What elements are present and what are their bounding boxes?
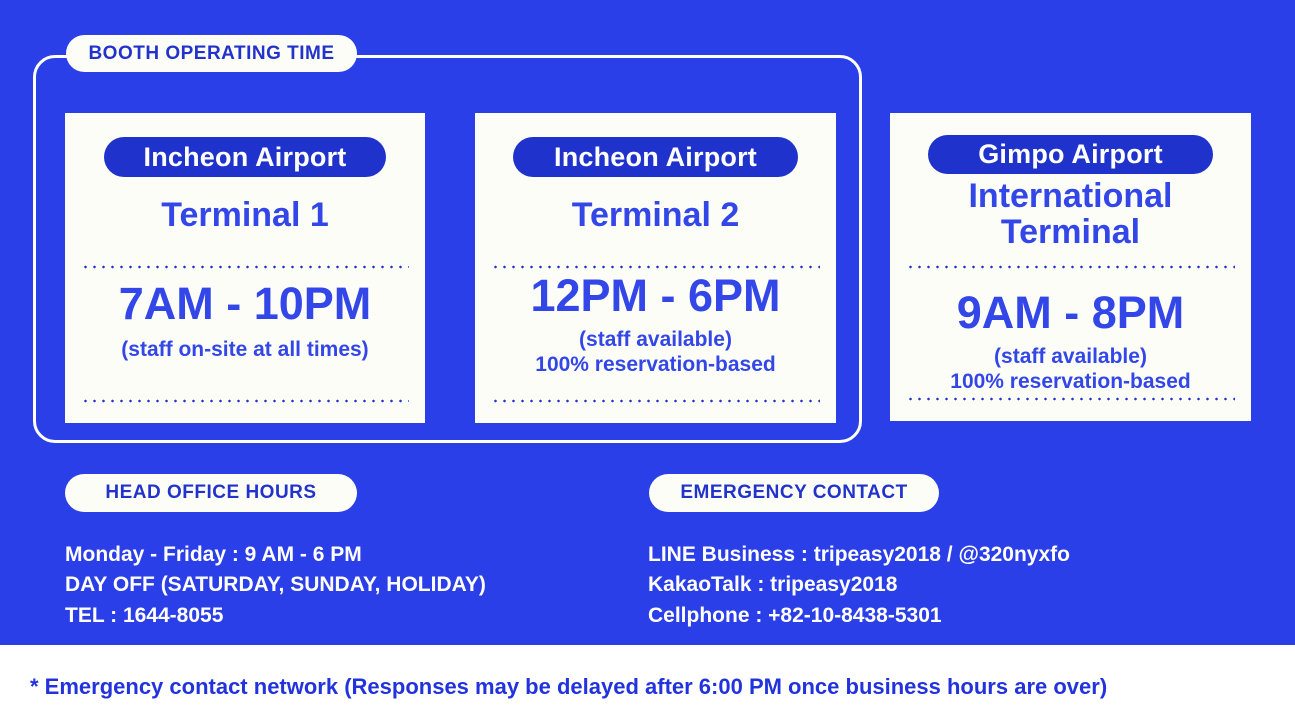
dotted-line — [491, 265, 820, 269]
card-hours: 7AM - 10PM — [119, 281, 372, 326]
card-hours: 12PM - 6PM — [530, 273, 780, 318]
card-terminal-title: Terminal 1 — [161, 197, 329, 233]
dotted-line — [81, 399, 409, 403]
emergency-cellphone: Cellphone : +82-10-8438-5301 — [648, 601, 1070, 631]
card-divider-bottom — [890, 397, 1251, 401]
card-hours: 9AM - 8PM — [957, 290, 1185, 335]
dotted-line — [491, 399, 820, 403]
card-divider-top — [65, 265, 425, 269]
head-office-tel: TEL : 1644-8055 — [65, 601, 486, 631]
card-divider-bottom — [65, 399, 425, 403]
blue-panel: BOOTH OPERATING TIME Incheon Airport Ter… — [0, 0, 1295, 645]
booth-card-incheon-terminal-2: Incheon Airport Terminal 2 12PM - 6PM (s… — [475, 113, 836, 423]
badge-head-office-hours: HEAD OFFICE HOURS — [65, 474, 357, 512]
head-office-weekday-hours: Monday - Friday : 9 AM - 6 PM — [65, 540, 486, 570]
dotted-line — [81, 265, 409, 269]
booth-card-incheon-terminal-1: Incheon Airport Terminal 1 7AM - 10PM (s… — [65, 113, 425, 423]
card-note-line-1: (staff available) — [579, 328, 732, 353]
card-terminal-title-line-1: International — [968, 178, 1172, 214]
dotted-line — [906, 265, 1235, 269]
head-office-day-off: DAY OFF (SATURDAY, SUNDAY, HOLIDAY) — [65, 570, 486, 600]
head-office-info: Monday - Friday : 9 AM - 6 PM DAY OFF (S… — [65, 540, 486, 631]
footer-note: * Emergency contact network (Responses m… — [30, 674, 1107, 700]
card-note-line-2: 100% reservation-based — [535, 353, 775, 378]
emergency-kakaotalk: KakaoTalk : tripeasy2018 — [648, 570, 1070, 600]
booth-card-gimpo-international-terminal: Gimpo Airport International Terminal 9AM… — [890, 113, 1251, 421]
badge-emergency-contact: EMERGENCY CONTACT — [649, 474, 939, 512]
card-note-line-1: (staff on-site at all times) — [121, 338, 368, 363]
badge-booth-operating-time: BOOTH OPERATING TIME — [66, 35, 357, 72]
card-divider-top — [890, 265, 1251, 269]
dotted-line — [906, 397, 1235, 401]
card-divider-bottom — [475, 399, 836, 403]
poster-root: BOOTH OPERATING TIME Incheon Airport Ter… — [0, 0, 1295, 728]
card-divider-top — [475, 265, 836, 269]
card-airport-pill: Incheon Airport — [104, 137, 386, 177]
footer-bar: * Emergency contact network (Responses m… — [0, 645, 1295, 728]
card-terminal-title: Terminal 2 — [572, 197, 740, 233]
card-note-line-2: 100% reservation-based — [950, 370, 1190, 395]
card-note-line-1: (staff available) — [994, 345, 1147, 370]
card-terminal-title-line-2: Terminal — [1001, 214, 1140, 250]
card-airport-pill: Gimpo Airport — [928, 135, 1213, 174]
emergency-contact-info: LINE Business : tripeasy2018 / @320nyxfo… — [648, 540, 1070, 631]
emergency-line-business: LINE Business : tripeasy2018 / @320nyxfo — [648, 540, 1070, 570]
card-airport-pill: Incheon Airport — [513, 137, 798, 177]
